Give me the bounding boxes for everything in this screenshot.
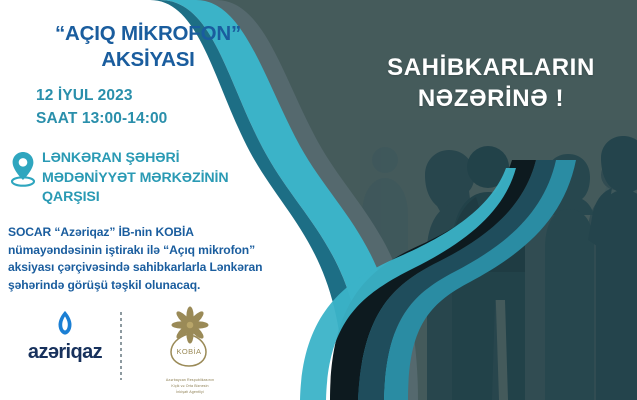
title-line-1: “AÇIQ MİKROFON” — [12, 21, 284, 47]
event-description: SOCAR “Azəriqaz” İB-nin KOBİA nümayəndəs… — [8, 224, 308, 294]
headline-line-1: SAHİBKARLARIN — [352, 52, 630, 83]
location-line-1: LƏNKƏRAN ŞƏHƏRİ — [42, 149, 229, 169]
event-location: LƏNKƏRAN ŞƏHƏRİ MƏDƏNİYYƏT MƏRKƏZİNİN QA… — [8, 148, 298, 208]
location-line-2: MƏDƏNİYYƏT MƏRKƏZİNİN — [42, 169, 229, 189]
event-title: “AÇIQ MİKROFON” AKSİYASI — [12, 21, 284, 73]
kobia-mark-text: KOBİA — [177, 347, 202, 356]
location-line-3: QARŞISI — [42, 188, 229, 208]
flame-icon-wrap — [18, 310, 112, 340]
description-line-4: şəhərində görüşü təşkil olunacaq. — [8, 277, 308, 295]
flame-icon — [50, 310, 80, 340]
event-date: 12 İYUL 2023 — [36, 84, 276, 107]
event-datetime: 12 İYUL 2023 SAAT 13:00-14:00 — [36, 84, 276, 130]
logo-divider — [120, 312, 122, 380]
kobia-subtitle-2: Kiçik və Orta Biznesin — [140, 384, 240, 389]
kobia-logo: KOBİA Azərbaycan Respublikasının Kiçik v… — [140, 306, 240, 396]
flower-icon: KOBİA — [154, 306, 226, 372]
title-line-2: AKSİYASI — [12, 47, 284, 73]
poster-canvas: “AÇIQ MİKROFON” AKSİYASI 12 İYUL 2023 SA… — [0, 0, 637, 400]
headline: SAHİBKARLARIN NƏZƏRİNƏ ! — [352, 52, 630, 114]
location-lines: LƏNKƏRAN ŞƏHƏRİ MƏDƏNİYYƏT MƏRKƏZİNİN QA… — [42, 148, 229, 208]
headline-line-2: NƏZƏRİNƏ ! — [352, 83, 630, 114]
description-line-3: aksiyası çərçivəsində sahibkarlarla Lənk… — [8, 259, 308, 277]
map-pin-icon — [8, 150, 38, 188]
description-line-2: nümayəndəsinin iştirakı ilə “Açıq mikrof… — [8, 242, 308, 260]
azeriqaz-logo: azəriqaz — [18, 310, 112, 363]
kobia-subtitle-1: Azərbaycan Respublikasının — [140, 378, 240, 383]
left-content-column: “AÇIQ MİKROFON” AKSİYASI 12 İYUL 2023 SA… — [0, 0, 300, 400]
flower-petals — [172, 307, 209, 344]
azeriqaz-wordmark: azəriqaz — [18, 341, 112, 363]
description-line-1: SOCAR “Azəriqaz” İB-nin KOBİA — [8, 224, 308, 242]
logo-row: azəriqaz — [12, 306, 302, 396]
event-time: SAAT 13:00-14:00 — [36, 107, 276, 130]
kobia-subtitle-3: İnkişafı Agentliyi — [140, 390, 240, 395]
